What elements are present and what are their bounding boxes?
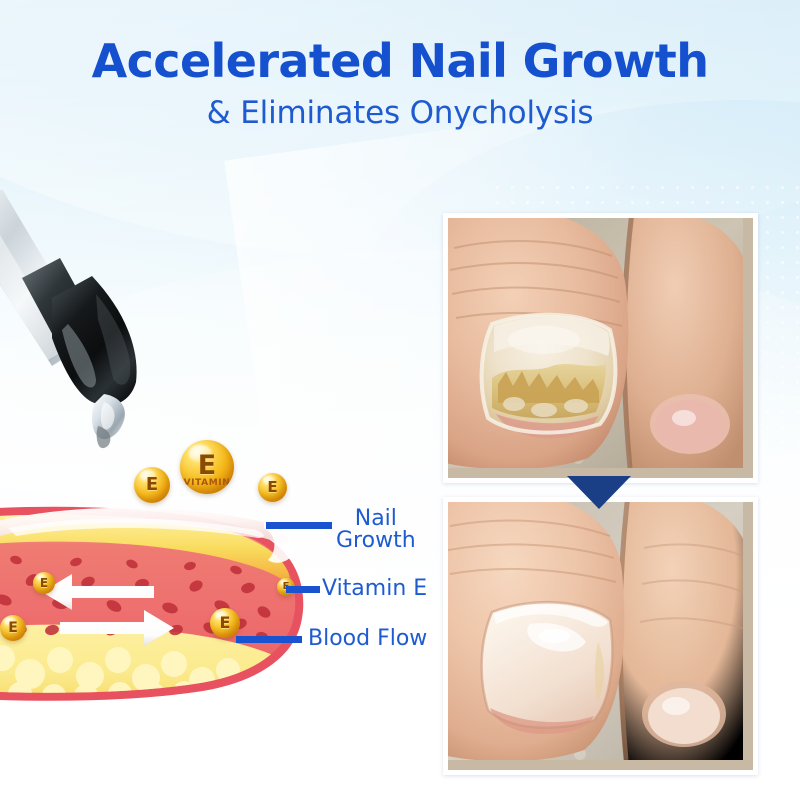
headline-block: Accelerated Nail Growth & Eliminates Ony… <box>0 38 800 131</box>
after-photo-image <box>448 502 753 770</box>
tissue-capsule-1: E <box>33 572 55 594</box>
before-photo-image <box>448 218 753 478</box>
after-photo <box>443 497 758 775</box>
callout-label-blood-flow: Blood Flow <box>308 628 427 650</box>
leader-line-nail-growth <box>266 522 332 529</box>
leader-line-vitamin-e <box>286 586 320 593</box>
capsule-letter: E <box>267 480 277 495</box>
capsule-letter: E <box>40 577 48 589</box>
callout-label-line1: Nail <box>336 508 416 530</box>
callout-blood-flow: Blood Flow <box>236 628 427 650</box>
before-photo <box>443 213 758 483</box>
capsule-letter: E <box>8 621 18 635</box>
floating-capsule-small: E <box>258 473 287 502</box>
page-title: Accelerated Nail Growth <box>0 38 800 85</box>
page-subtitle: & Eliminates Onycholysis <box>0 95 800 131</box>
capsule-letter: E <box>198 452 216 479</box>
poster-canvas: Accelerated Nail Growth & Eliminates Ony… <box>0 0 800 800</box>
nail-polish-brush <box>0 190 204 450</box>
callout-label-line2: Growth <box>336 530 416 552</box>
tissue-capsule-2: E <box>0 615 26 641</box>
nail-cross-section <box>0 488 304 728</box>
leader-line-blood-flow <box>236 636 302 643</box>
capsule-letter: E <box>146 476 158 494</box>
floating-capsule-large: E VITAMIN <box>180 440 234 494</box>
floating-capsule-medium: E <box>134 467 170 503</box>
callout-label-nail-growth: Nail Growth <box>336 508 416 553</box>
transition-arrow-icon <box>567 476 631 509</box>
capsule-letter: E <box>220 615 231 631</box>
callout-label-vitamin-e: Vitamin E <box>322 578 427 600</box>
callout-nail-growth: Nail Growth <box>266 508 416 553</box>
callout-vitamin-e: Vitamin E <box>286 578 427 600</box>
capsule-vitamin-word: VITAMIN <box>180 478 234 488</box>
